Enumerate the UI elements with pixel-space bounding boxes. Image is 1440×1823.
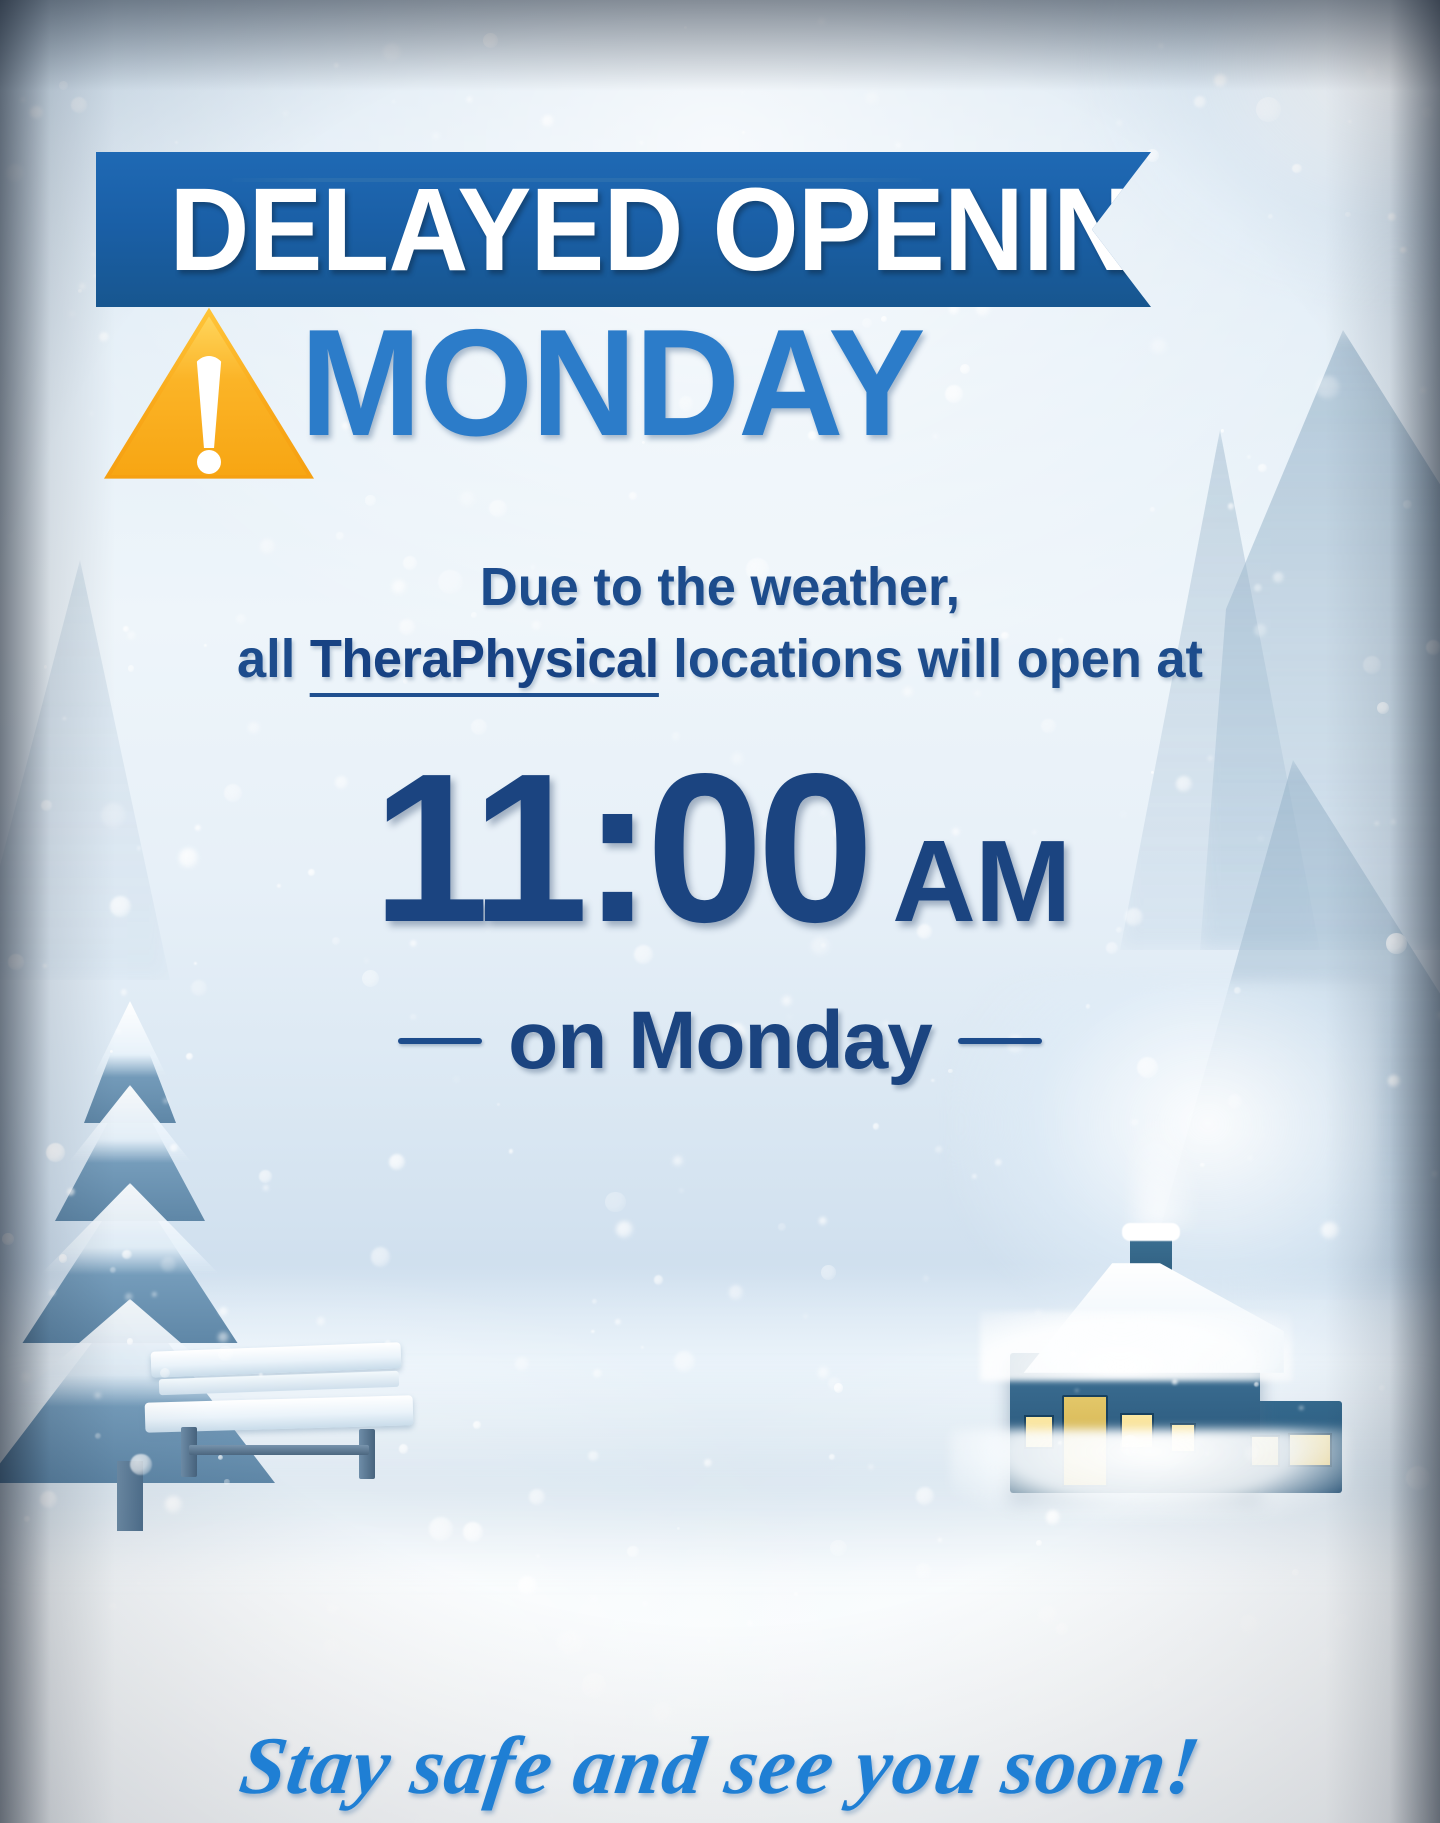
headline-underline — [232, 178, 922, 182]
body-line-2: all TheraPhysical locations will open at — [22, 628, 1419, 692]
pine-snow-cap — [40, 1183, 220, 1275]
footer-message: Stay safe and see you soon! — [234, 1719, 1206, 1813]
cabin-snow-drift — [950, 1429, 1350, 1519]
rule-left — [398, 1038, 482, 1044]
exclamation-dot-icon — [197, 450, 221, 474]
cabin-roof-snow — [980, 1311, 1292, 1381]
body-copy: Due to the weather, all TheraPhysical lo… — [0, 556, 1440, 691]
chimney-snow-cap — [1122, 1223, 1180, 1241]
opening-day-row: on Monday — [0, 1000, 1440, 1082]
bench-rail — [189, 1445, 369, 1455]
delayed-opening-banner: DELAYED OPENING — [96, 152, 1151, 307]
body-line-1: Due to the weather, — [22, 556, 1419, 620]
body-line-2-suffix: locations will open at — [659, 629, 1203, 689]
pine-snow-cap — [68, 1085, 192, 1163]
body-line-2-prefix: all — [237, 629, 310, 689]
rule-right — [958, 1038, 1042, 1044]
banner-title: DELAYED OPENING — [96, 171, 1217, 289]
snow-covered-bench — [145, 1341, 415, 1471]
pine-trunk — [117, 1461, 143, 1531]
opening-time: 11:00 AM — [370, 742, 1071, 954]
opening-time-block: 11:00 AM — [0, 742, 1440, 954]
brand-name: TheraPhysical — [310, 629, 659, 697]
opening-time-meridiem: AM — [892, 823, 1070, 939]
delayed-opening-poster: DELAYED OPENING MONDAY Due to the weathe… — [0, 0, 1440, 1823]
chimney-smoke — [1130, 1107, 1200, 1227]
warning-triangle-icon — [104, 304, 314, 484]
headline-row: MONDAY — [104, 300, 1264, 490]
opening-day-label: on Monday — [508, 1000, 932, 1082]
opening-time-value: 11:00 — [372, 742, 868, 954]
footer: Stay safe and see you soon! — [0, 1719, 1440, 1813]
headline-monday: MONDAY — [300, 300, 924, 467]
snow-covered-cabin — [980, 1193, 1330, 1493]
